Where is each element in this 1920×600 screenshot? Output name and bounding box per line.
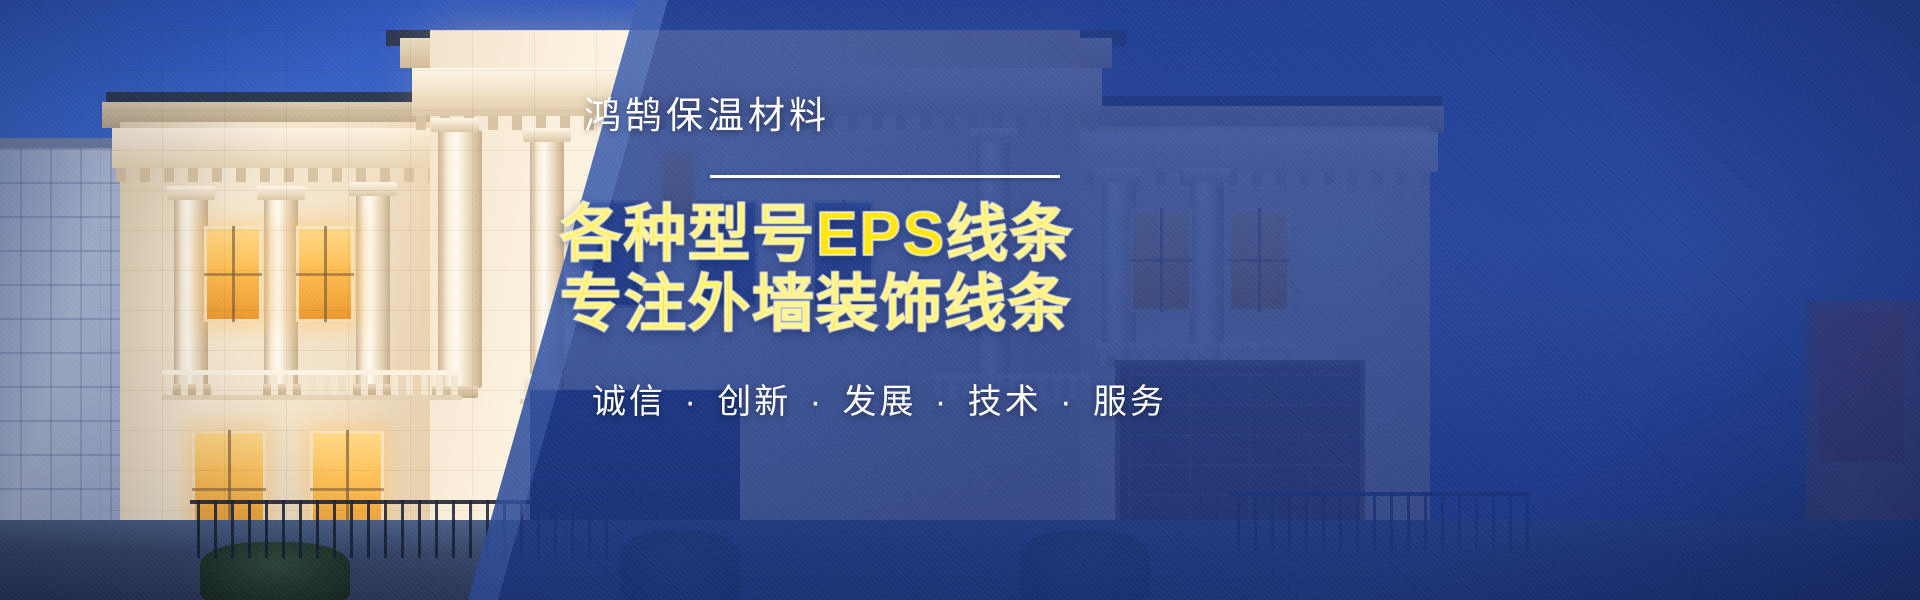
tagline-item-1: 创新: [717, 383, 791, 421]
headline: 各种型号EPS线条 专注外墙装饰线条: [556, 200, 1456, 340]
tagline-separator: ·: [804, 383, 830, 421]
tagline-item-4: 服务: [1093, 383, 1167, 421]
title-divider: [710, 175, 1060, 178]
headline-line-2: 专注外墙装饰线条: [560, 270, 1456, 340]
tagline: 诚信 · 创新 · 发展 · 技术 · 服务: [556, 374, 1456, 423]
tagline-item-2: 发展: [842, 383, 916, 421]
brand-eyebrow: 鸿鹄保温材料: [556, 96, 1456, 137]
promo-banner: 鸿鹄保温材料 各种型号EPS线条 专注外墙装饰线条 诚信 · 创新 · 发展 ·…: [0, 0, 1920, 600]
headline-line-1: 各种型号EPS线条: [560, 200, 1456, 270]
tagline-separator: ·: [929, 383, 955, 421]
tagline-separator: ·: [678, 383, 704, 421]
tagline-separator: ·: [1054, 383, 1080, 421]
tagline-item-3: 技术: [968, 383, 1042, 421]
banner-content: 鸿鹄保温材料 各种型号EPS线条 专注外墙装饰线条 诚信 · 创新 · 发展 ·…: [556, 96, 1456, 423]
tagline-item-0: 诚信: [592, 383, 666, 421]
